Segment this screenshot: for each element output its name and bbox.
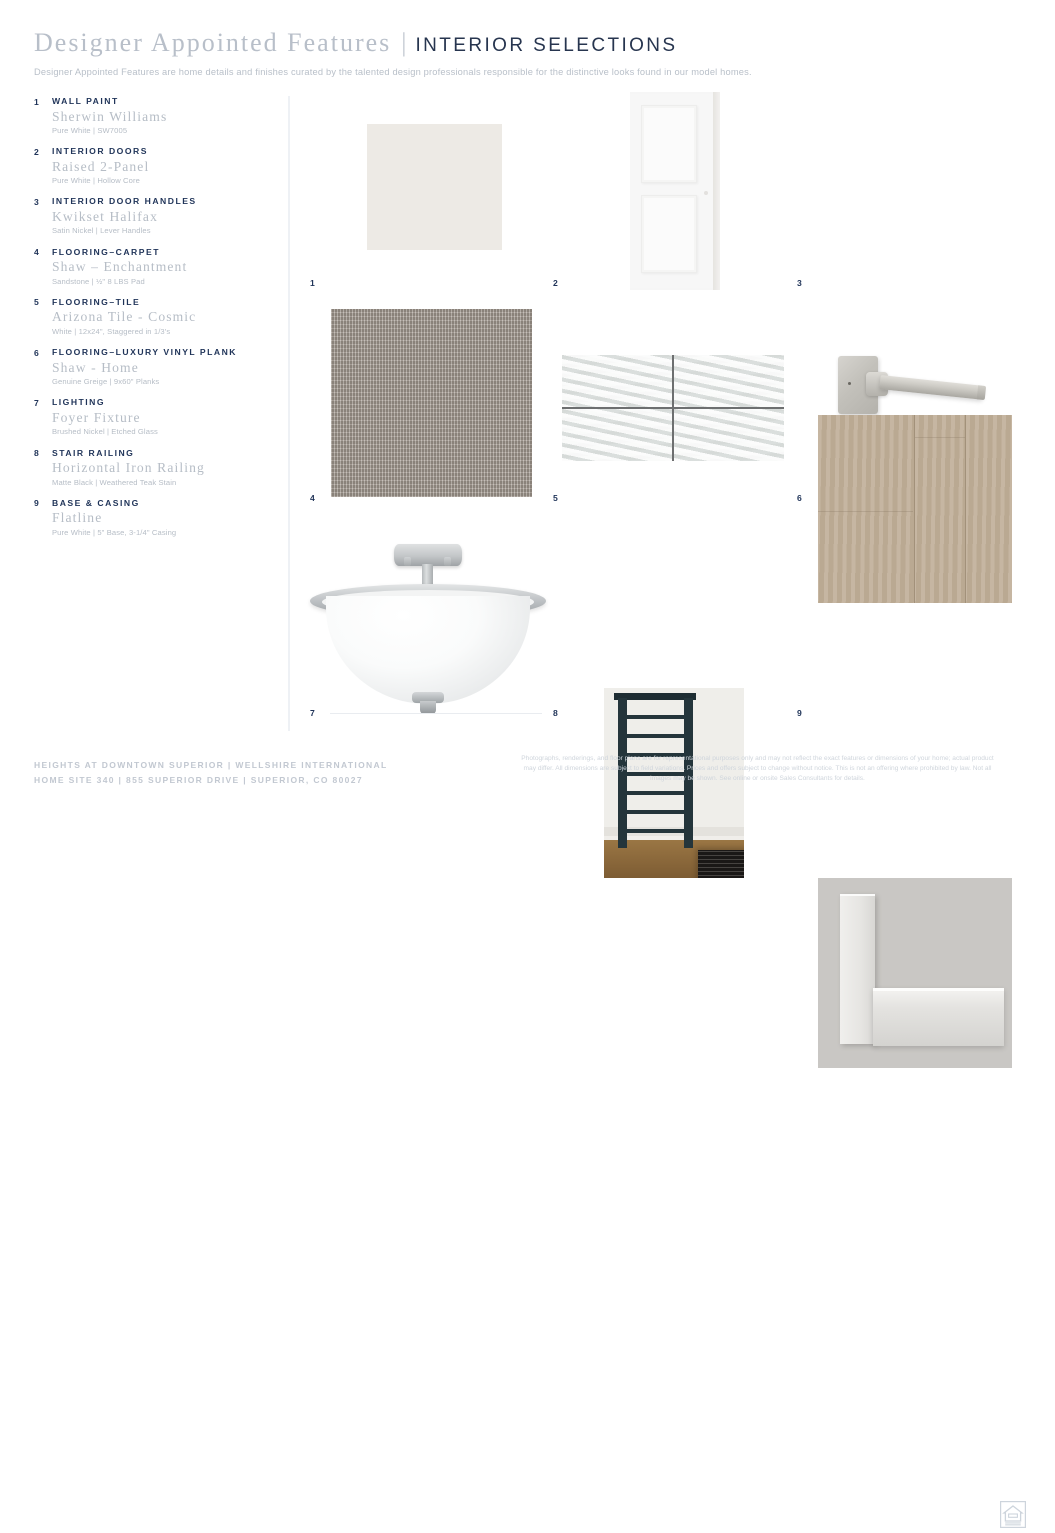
selection-detail: Satin Nickel | Lever Handles [52,226,269,235]
selection-number: 6 [34,347,52,358]
equal-housing-opportunity-icon [1000,1501,1026,1528]
interior-door-photo [630,92,720,290]
selection-number: 7 [34,397,52,408]
tile-piece [674,355,784,407]
selection-item-lighting: 7 LIGHTING Foyer Fixture Brushed Nickel … [34,397,269,436]
tile-swatch [562,355,784,461]
selection-number: 1 [34,96,52,107]
selection-name: Flatline [52,510,269,526]
selection-category: INTERIOR DOOR HANDLES [52,196,197,206]
light-fixture-photo [310,544,546,716]
selection-item-stair-railing: 8 STAIR RAILING Horizontal Iron Railing … [34,448,269,487]
tile-piece [562,355,672,407]
selection-number: 3 [34,196,52,207]
carpet-swatch [331,309,532,497]
gallery-number-1: 1 [310,278,315,288]
selection-name: Shaw – Enchantment [52,259,269,275]
selection-category: WALL PAINT [52,96,119,106]
footer-community-info: HEIGHTS AT DOWNTOWN SUPERIOR | WELLSHIRE… [34,758,388,788]
railing-bar [622,715,690,719]
wall-paint-swatch [367,124,502,250]
title-secondary: INTERIOR SELECTIONS [415,35,677,57]
gallery-row-3: 7 8 9 [310,516,1022,731]
gallery-number-9: 9 [797,708,802,718]
selection-category: LIGHTING [52,397,105,407]
gallery-number-2: 2 [553,278,558,288]
selection-number: 4 [34,247,52,258]
selection-detail: Brushed Nickel | Etched Glass [52,427,269,436]
gallery-number-6: 6 [797,493,802,503]
selection-category: INTERIOR DOORS [52,146,148,156]
gallery-row-1: 1 2 3 [310,92,1022,304]
door-lower-panel [641,195,697,273]
selection-category: STAIR RAILING [52,448,134,458]
vinyl-plank-end-seam [915,437,965,438]
selection-item-flooring-luxury-vinyl-plank: 6 FLOORING–LUXURY VINYL PLANK Shaw - Hom… [34,347,269,386]
selection-detail: Sandstone | ½" 8 LBS Pad [52,277,269,286]
selection-item-wall-paint: 1 WALL PAINT Sherwin Williams Pure White… [34,96,269,135]
selection-name: Arizona Tile - Cosmic [52,309,269,325]
fixture-canopy [394,544,462,566]
vinyl-plank-end-seam [818,511,913,512]
selection-detail: White | 12x24", Staggered in 1/3's [52,327,269,336]
door-edge [713,92,720,290]
vertical-divider [288,96,290,731]
selection-category: FLOORING–TILE [52,297,140,307]
selection-detail: Matte Black | Weathered Teak Stain [52,478,269,487]
selection-name: Shaw - Home [52,360,269,376]
selection-name: Sherwin Williams [52,109,269,125]
selection-number: 8 [34,448,52,459]
page-title: Designer Appointed Features | INTERIOR S… [34,28,1024,58]
gallery-number-3: 3 [797,278,802,288]
railing-bar [622,829,690,833]
selections-gallery: 1 2 3 4 [310,92,1022,731]
selection-category: FLOORING–CARPET [52,247,160,257]
selection-item-interior-doors: 2 INTERIOR DOORS Raised 2-Panel Pure Whi… [34,146,269,185]
tile-piece [674,409,784,461]
selection-category: BASE & CASING [52,498,140,508]
gallery-rule [330,713,542,714]
selections-list: 1 WALL PAINT Sherwin Williams Pure White… [34,96,269,548]
selection-detail: Pure White | 5" Base, 3-1/4" Casing [52,528,269,537]
selection-detail: Pure White | SW7005 [52,126,269,135]
selection-detail: Genuine Greige | 9x60" Planks [52,377,269,386]
selection-number: 5 [34,297,52,308]
fixture-glass-dome [326,596,530,704]
page-subtitle: Designer Appointed Features are home det… [34,67,1024,77]
door-casing-trim [840,894,875,1044]
gallery-number-7: 7 [310,708,315,718]
footer-line-2: HOME SITE 340 | 855 SUPERIOR DRIVE | SUP… [34,773,388,788]
footer-disclaimer: Photographs, renderings, and floor plans… [520,754,995,785]
selection-item-interior-door-handles: 3 INTERIOR DOOR HANDLES Kwikset Halifax … [34,196,269,235]
baseboard-trim [873,988,1004,1046]
page-header: Designer Appointed Features | INTERIOR S… [34,28,1024,77]
selection-number: 9 [34,498,52,509]
fixture-screw [444,557,451,566]
footer-line-1: HEIGHTS AT DOWNTOWN SUPERIOR | WELLSHIRE… [34,758,388,773]
selection-item-base-and-casing: 9 BASE & CASING Flatline Pure White | 5"… [34,498,269,537]
page-footer: HEIGHTS AT DOWNTOWN SUPERIOR | WELLSHIRE… [0,745,1055,815]
selection-name: Raised 2-Panel [52,159,269,175]
gallery-number-8: 8 [553,708,558,718]
gallery-number-4: 4 [310,493,315,503]
selection-item-flooring-tile: 5 FLOORING–TILE Arizona Tile - Cosmic Wh… [34,297,269,336]
title-primary: Designer Appointed Features [34,28,391,58]
door-knob-hole [704,191,708,195]
tile-piece [562,409,672,461]
gallery-number-5: 5 [553,493,558,503]
base-casing-photo [818,878,1012,1068]
door-upper-panel [641,105,697,183]
gallery-row-2: 4 5 6 [310,304,1022,516]
selection-detail: Pure White | Hollow Core [52,176,269,185]
selection-name: Horizontal Iron Railing [52,460,269,476]
selection-category: FLOORING–LUXURY VINYL PLANK [52,347,237,357]
selection-name: Foyer Fixture [52,410,269,426]
selection-item-flooring-carpet: 4 FLOORING–CARPET Shaw – Enchantment San… [34,247,269,286]
railing-bar [622,734,690,738]
selection-number: 2 [34,146,52,157]
title-separator: | [401,28,406,58]
weathered-teak-stain-swatch [698,850,744,878]
selection-name: Kwikset Halifax [52,209,269,225]
fixture-screw [404,557,411,566]
